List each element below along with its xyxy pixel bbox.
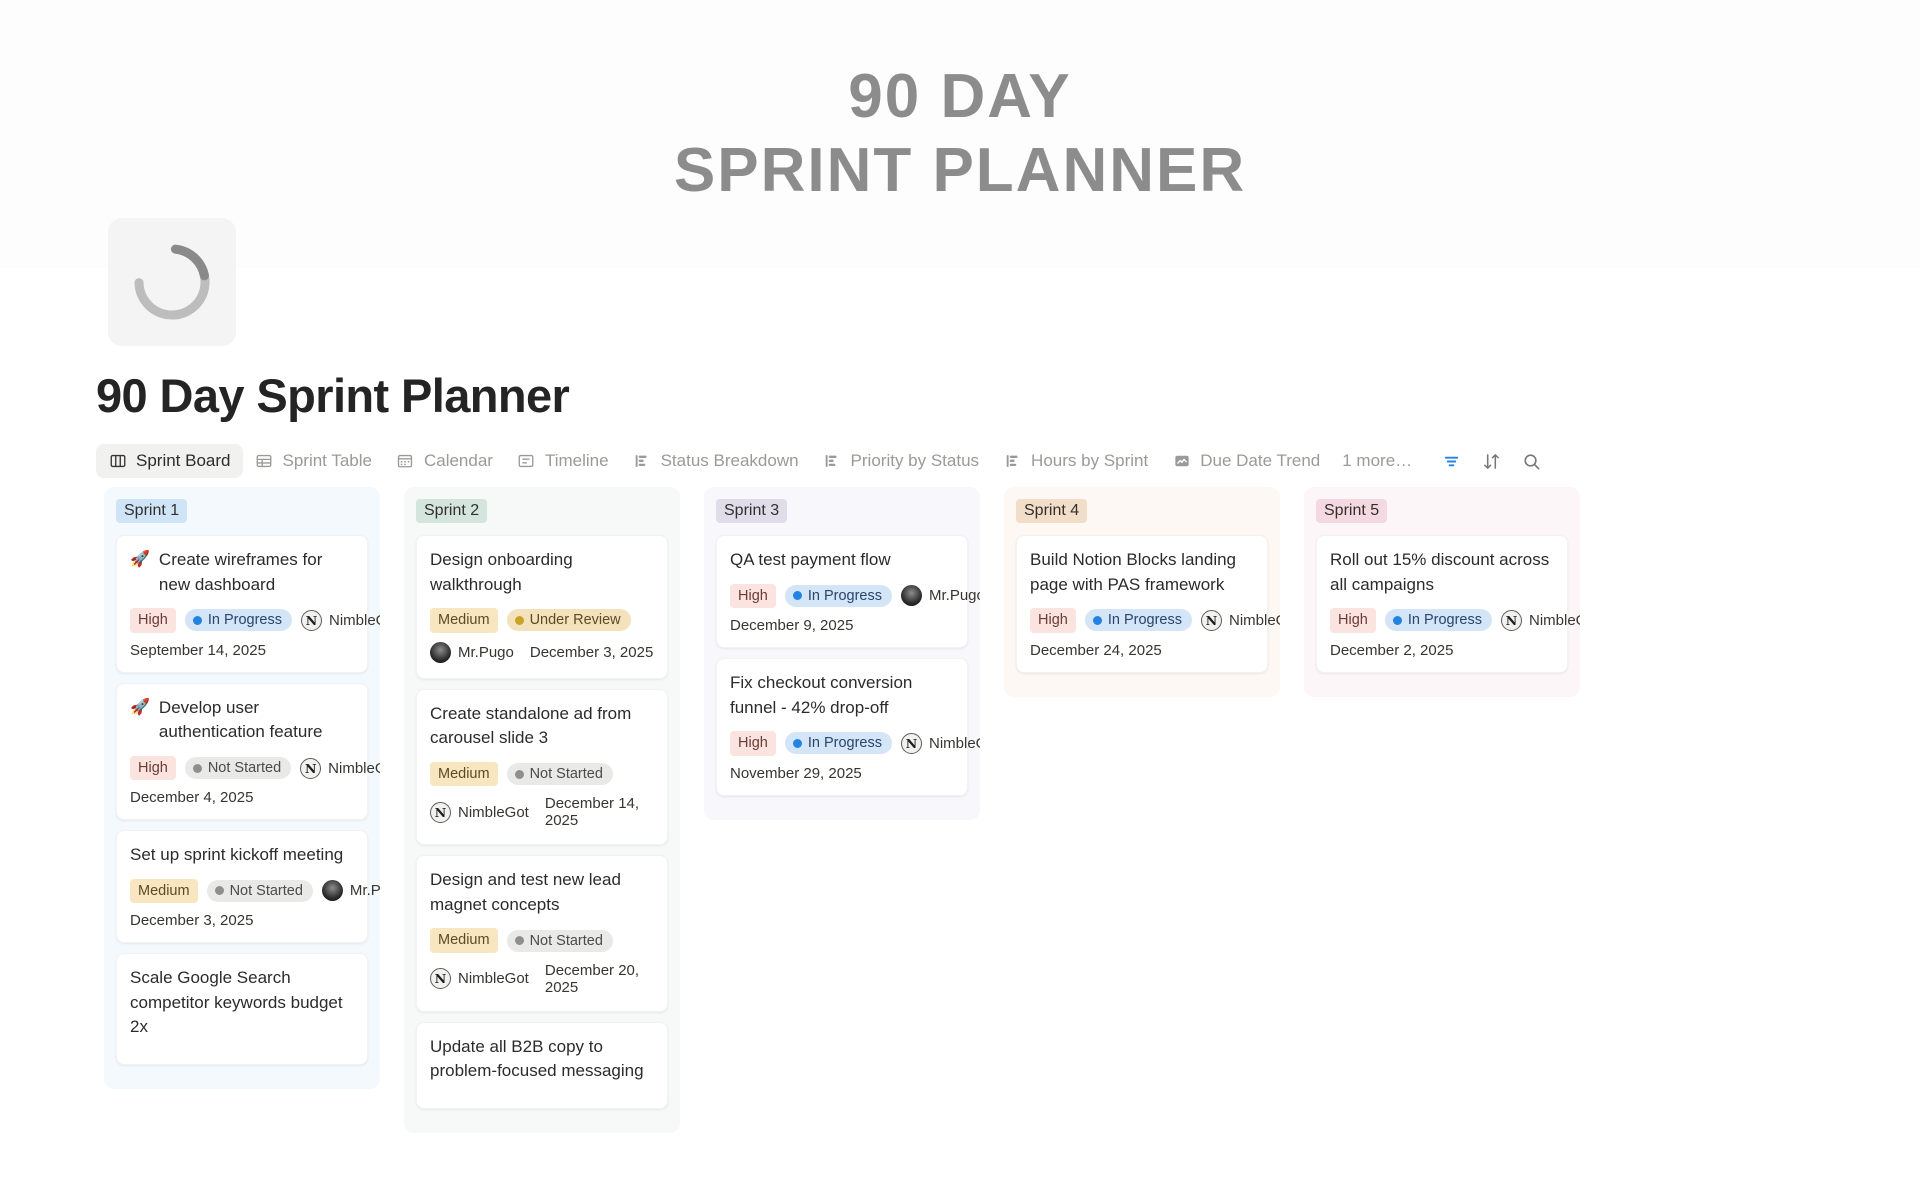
priority-pill: High: [130, 608, 176, 632]
line-chart-icon: [1172, 452, 1191, 471]
status-dot-icon: [515, 770, 524, 779]
notion-avatar-icon: N: [300, 758, 321, 779]
priority-pill: High: [130, 756, 176, 780]
card-title-row: Create standalone ad from carousel slide…: [430, 702, 654, 751]
priority-pill: High: [730, 731, 776, 755]
card-title: Set up sprint kickoff meeting: [130, 843, 343, 868]
board-card[interactable]: Build Notion Blocks landing page with PA…: [1016, 535, 1268, 673]
card-properties-row: HighIn ProgressNNimbleGot: [1330, 608, 1554, 632]
tab-status-breakdown[interactable]: Status Breakdown: [621, 444, 811, 478]
status-label: Not Started: [530, 766, 603, 782]
priority-pill: High: [730, 584, 776, 608]
priority-pill: Medium: [430, 928, 498, 952]
status-dot-icon: [1093, 616, 1102, 625]
status-dot-icon: [793, 739, 802, 748]
status-dot-icon: [515, 936, 524, 945]
status-pill: Not Started: [207, 880, 313, 902]
column-header[interactable]: Sprint 2: [416, 499, 668, 523]
card-due-date: September 14, 2025: [130, 642, 354, 659]
status-label: In Progress: [808, 588, 882, 604]
card-assignee: NNimbleGot: [301, 610, 380, 631]
card-due-date: December 14, 2025: [545, 795, 654, 829]
priority-pill: Medium: [130, 879, 198, 903]
board-card[interactable]: Design and test new lead magnet concepts…: [416, 855, 668, 1012]
assignee-name: Mr.Pugo: [350, 882, 380, 899]
view-actions: [1422, 450, 1542, 472]
status-pill: Not Started: [507, 930, 613, 952]
board-card[interactable]: Design onboarding walkthroughMediumUnder…: [416, 535, 668, 679]
card-due-date: December 24, 2025: [1030, 642, 1254, 659]
card-title-row: Scale Google Search competitor keywords …: [130, 966, 354, 1040]
board-columns-icon: [108, 452, 127, 471]
more-views-button[interactable]: 1 more…: [1332, 451, 1422, 471]
board-card[interactable]: Create standalone ad from carousel slide…: [416, 689, 668, 846]
column-group-chip: Sprint 4: [1016, 499, 1087, 523]
tab-calendar[interactable]: Calendar: [384, 444, 505, 478]
table-icon: [255, 452, 274, 471]
column-group-chip: Sprint 1: [116, 499, 187, 523]
card-title-row: Roll out 15% discount across all campaig…: [1330, 548, 1554, 597]
search-icon[interactable]: [1520, 450, 1542, 472]
card-due-date: December 3, 2025: [530, 644, 653, 661]
tab-label: Sprint Board: [136, 451, 231, 471]
card-properties-row: HighIn ProgressNNimbleGot: [730, 731, 954, 755]
notion-avatar-icon: N: [901, 733, 922, 754]
priority-pill: High: [1330, 608, 1376, 632]
board-card[interactable]: Update all B2B copy to problem-focused m…: [416, 1022, 668, 1109]
assignee-name: NimbleGot: [1229, 612, 1280, 629]
priority-pill: Medium: [430, 762, 498, 786]
board-column-sprint-4: Sprint 4Build Notion Blocks landing page…: [1004, 487, 1280, 697]
tab-label: Hours by Sprint: [1031, 451, 1148, 471]
card-title-row: 🚀Create wireframes for new dashboard: [130, 548, 354, 597]
tab-label: Timeline: [545, 451, 609, 471]
card-properties-row: MediumNot Started: [430, 928, 654, 952]
card-assignee: NNimbleGot: [430, 968, 529, 989]
notion-avatar-icon: N: [430, 802, 451, 823]
status-pill: Not Started: [507, 763, 613, 785]
progress-ring-icon: [126, 236, 218, 328]
card-meta-row: NNimbleGotDecember 20, 2025: [430, 962, 654, 996]
card-title-row: Build Notion Blocks landing page with PA…: [1030, 548, 1254, 597]
board-card[interactable]: 🚀Develop user authentication featureHigh…: [116, 683, 368, 821]
assignee-name: Mr.Pugo: [458, 644, 514, 661]
view-tab-bar: Sprint BoardSprint TableCalendarTimeline…: [96, 443, 1488, 479]
card-meta-row: NNimbleGotDecember 14, 2025: [430, 795, 654, 829]
assignee-name: NimbleGot: [328, 760, 380, 777]
page-icon[interactable]: [108, 218, 236, 346]
status-label: In Progress: [1108, 612, 1182, 628]
card-title-row: Design and test new lead magnet concepts: [430, 868, 654, 917]
kanban-board: Sprint 1🚀Create wireframes for new dashb…: [96, 487, 1920, 1199]
rocket-icon: 🚀: [130, 696, 150, 719]
status-label: Not Started: [530, 933, 603, 949]
page-cover-banner: 90 DAY SPRINT PLANNER: [0, 0, 1920, 268]
status-label: Not Started: [230, 883, 303, 899]
status-label: In Progress: [808, 735, 882, 751]
tab-label: Status Breakdown: [661, 451, 799, 471]
status-pill: Under Review: [507, 609, 631, 631]
card-title: Update all B2B copy to problem-focused m…: [430, 1035, 654, 1084]
card-title: Develop user authentication feature: [159, 696, 354, 745]
notion-avatar-icon: N: [1201, 610, 1222, 631]
status-label: Under Review: [530, 612, 621, 628]
card-meta-row: Mr.PugoDecember 3, 2025: [430, 642, 654, 663]
board-column-sprint-3: Sprint 3QA test payment flowHighIn Progr…: [704, 487, 980, 820]
column-header[interactable]: Sprint 5: [1316, 499, 1568, 523]
tab-priority-by-status[interactable]: Priority by Status: [811, 444, 992, 478]
cover-title-line-1: 90 DAY: [674, 66, 1246, 128]
card-title: Build Notion Blocks landing page with PA…: [1030, 548, 1254, 597]
status-dot-icon: [515, 616, 524, 625]
status-pill: In Progress: [185, 609, 292, 631]
status-pill: In Progress: [1085, 609, 1192, 631]
user-avatar: [430, 642, 451, 663]
sort-icon[interactable]: [1480, 450, 1502, 472]
card-assignee: Mr.Pugo: [430, 642, 514, 663]
status-pill: Not Started: [185, 757, 291, 779]
bar-chart-icon: [633, 452, 652, 471]
assignee-name: NimbleGot: [458, 804, 529, 821]
card-assignee: Mr.Pugo: [901, 585, 980, 606]
user-avatar: [901, 585, 922, 606]
card-properties-row: HighIn ProgressNNimbleGot: [130, 608, 354, 632]
tab-timeline[interactable]: Timeline: [505, 444, 621, 478]
board-card[interactable]: Fix checkout conversion funnel - 42% dro…: [716, 658, 968, 796]
card-assignee: NNimbleGot: [1501, 610, 1580, 631]
board-column-sprint-2: Sprint 2Design onboarding walkthroughMed…: [404, 487, 680, 1133]
card-title-row: 🚀Develop user authentication feature: [130, 696, 354, 745]
card-due-date: December 4, 2025: [130, 789, 354, 806]
page-title[interactable]: 90 Day Sprint Planner: [96, 368, 569, 423]
card-assignee: NNimbleGot: [901, 733, 980, 754]
status-dot-icon: [193, 764, 202, 773]
board-card[interactable]: Set up sprint kickoff meetingMediumNot S…: [116, 830, 368, 943]
status-pill: In Progress: [1385, 609, 1492, 631]
view-tabs: Sprint BoardSprint TableCalendarTimeline…: [96, 444, 1422, 478]
column-header[interactable]: Sprint 4: [1016, 499, 1268, 523]
assignee-name: NimbleGot: [929, 735, 980, 752]
card-title-row: Set up sprint kickoff meeting: [130, 843, 354, 868]
assignee-name: NimbleGot: [1529, 612, 1580, 629]
card-title-row: QA test payment flow: [730, 548, 954, 573]
status-dot-icon: [793, 591, 802, 600]
status-label: In Progress: [1408, 612, 1482, 628]
bar-chart-icon: [823, 452, 842, 471]
column-group-chip: Sprint 5: [1316, 499, 1387, 523]
card-assignee: NNimbleGot: [430, 802, 529, 823]
card-title: Roll out 15% discount across all campaig…: [1330, 548, 1554, 597]
card-properties-row: HighIn ProgressNNimbleGot: [1030, 608, 1254, 632]
notion-avatar-icon: N: [301, 610, 322, 631]
status-dot-icon: [215, 886, 224, 895]
card-title: Scale Google Search competitor keywords …: [130, 966, 354, 1040]
tab-label: Sprint Table: [283, 451, 372, 471]
card-title-row: Fix checkout conversion funnel - 42% dro…: [730, 671, 954, 720]
column-header[interactable]: Sprint 3: [716, 499, 968, 523]
card-title: Create standalone ad from carousel slide…: [430, 702, 654, 751]
tab-label: Priority by Status: [851, 451, 980, 471]
notion-avatar-icon: N: [430, 968, 451, 989]
board-card[interactable]: 🚀Create wireframes for new dashboardHigh…: [116, 535, 368, 673]
status-pill: In Progress: [785, 585, 892, 607]
board-column-sprint-5: Sprint 5Roll out 15% discount across all…: [1304, 487, 1580, 697]
cover-title-graphic: 90 DAY SPRINT PLANNER: [674, 66, 1246, 202]
column-group-chip: Sprint 3: [716, 499, 787, 523]
card-properties-row: HighIn ProgressMr.Pugo: [730, 584, 954, 608]
card-properties-row: MediumNot Started: [430, 762, 654, 786]
board-card[interactable]: QA test payment flowHighIn ProgressMr.Pu…: [716, 535, 968, 648]
card-title: QA test payment flow: [730, 548, 891, 573]
card-due-date: December 9, 2025: [730, 617, 954, 634]
timeline-icon: [517, 452, 536, 471]
card-due-date: December 20, 2025: [545, 962, 654, 996]
priority-pill: Medium: [430, 608, 498, 632]
notion-avatar-icon: N: [1501, 610, 1522, 631]
tab-sprint-table[interactable]: Sprint Table: [243, 444, 384, 478]
card-assignee: NNimbleGot: [1201, 610, 1280, 631]
card-title-row: Update all B2B copy to problem-focused m…: [430, 1035, 654, 1084]
card-properties-row: HighNot StartedNNimbleGot: [130, 756, 354, 780]
card-title-row: Design onboarding walkthrough: [430, 548, 654, 597]
cover-title-line-2: SPRINT PLANNER: [674, 140, 1246, 202]
filter-icon[interactable]: [1440, 450, 1462, 472]
card-properties-row: MediumUnder Review: [430, 608, 654, 632]
board-card[interactable]: Scale Google Search competitor keywords …: [116, 953, 368, 1065]
tab-hours-by-sprint[interactable]: Hours by Sprint: [991, 444, 1160, 478]
assignee-name: NimbleGot: [458, 970, 529, 987]
status-dot-icon: [193, 616, 202, 625]
status-pill: In Progress: [785, 732, 892, 754]
card-assignee: Mr.Pugo: [322, 880, 380, 901]
column-header[interactable]: Sprint 1: [116, 499, 368, 523]
tab-label: Calendar: [424, 451, 493, 471]
calendar-icon: [396, 452, 415, 471]
bar-chart-icon: [1003, 452, 1022, 471]
card-title: Design and test new lead magnet concepts: [430, 868, 654, 917]
card-title: Fix checkout conversion funnel - 42% dro…: [730, 671, 954, 720]
status-label: Not Started: [208, 760, 281, 776]
user-avatar: [322, 880, 343, 901]
tab-label: Due Date Trend: [1200, 451, 1320, 471]
assignee-name: Mr.Pugo: [929, 587, 980, 604]
card-due-date: December 2, 2025: [1330, 642, 1554, 659]
card-properties-row: MediumNot StartedMr.Pugo: [130, 879, 354, 903]
priority-pill: High: [1030, 608, 1076, 632]
card-title: Create wireframes for new dashboard: [159, 548, 354, 597]
card-due-date: December 3, 2025: [130, 912, 354, 929]
board-column-sprint-1: Sprint 1🚀Create wireframes for new dashb…: [104, 487, 380, 1089]
rocket-icon: 🚀: [130, 548, 150, 571]
status-dot-icon: [1393, 616, 1402, 625]
card-title: Design onboarding walkthrough: [430, 548, 654, 597]
board-card[interactable]: Roll out 15% discount across all campaig…: [1316, 535, 1568, 673]
card-due-date: November 29, 2025: [730, 765, 954, 782]
card-assignee: NNimbleGot: [300, 758, 380, 779]
tab-sprint-board[interactable]: Sprint Board: [96, 444, 243, 478]
assignee-name: NimbleGot: [329, 612, 380, 629]
status-label: In Progress: [208, 612, 282, 628]
tab-due-date-trend[interactable]: Due Date Trend: [1160, 444, 1332, 478]
column-group-chip: Sprint 2: [416, 499, 487, 523]
